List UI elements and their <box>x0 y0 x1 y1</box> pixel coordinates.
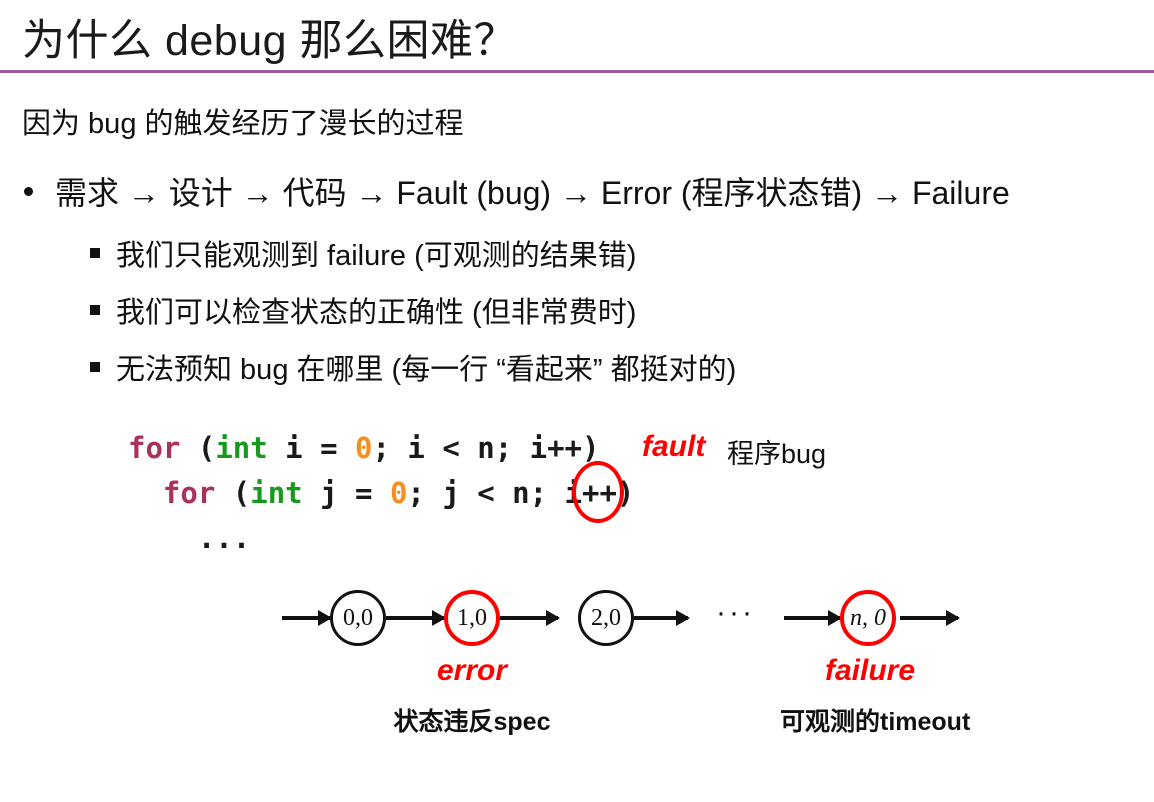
sub-bullet-1-label: 我们可以检查状态的正确性 (但非常费时) <box>116 289 636 331</box>
square-bullet-icon <box>90 305 100 315</box>
slide-root: 为什么 debug 那么困难？ 因为 bug 的触发经历了漫长的过程 需求 → … <box>0 0 1154 802</box>
square-bullet-icon <box>90 248 100 258</box>
round-bullet-icon <box>24 187 33 196</box>
state-node-2: 2,0 <box>578 590 634 646</box>
arrow-0-1 <box>386 616 444 620</box>
code-token-1-4: j = <box>303 476 390 510</box>
arrow-entry <box>282 616 330 620</box>
state-node-1: 1,0 <box>444 590 500 646</box>
code-token-1-5: 0 <box>390 476 407 510</box>
arrow-n-out <box>900 616 958 620</box>
code-token-0-1: ( <box>180 431 215 465</box>
caption-error: 状态违反spec <box>392 702 552 738</box>
bug-highlight-circle <box>572 461 624 523</box>
code-token-0-2: int <box>215 431 267 465</box>
state-node-2-label: 2,0 <box>591 605 621 632</box>
fault-note: 程序bug <box>727 432 826 471</box>
square-bullet-icon <box>90 362 100 372</box>
state-node-n-label: n, 0 <box>850 605 886 632</box>
lead-text: 因为 bug 的触发经历了漫长的过程 <box>22 100 464 142</box>
code-token-2-0: ... <box>128 521 250 555</box>
state-machine-diagram: 0,0 1,0 2,0 ··· n, 0 error failure 状态违反s… <box>0 560 1154 760</box>
code-token-0-3: i = <box>268 431 355 465</box>
code-token-0-4: 0 <box>355 431 372 465</box>
sub-bullet-2: 无法预知 bug 在哪里 (每一行 “看起来” 都挺对的) <box>90 346 736 388</box>
page-title: 为什么 debug 那么困难？ <box>22 6 517 68</box>
arrow-2-out <box>634 616 688 620</box>
bullet-level1: 需求 → 设计 → 代码 → Fault (bug) → Error (程序状态… <box>24 168 1010 214</box>
state-node-0: 0,0 <box>330 590 386 646</box>
code-token-1-2: ( <box>215 476 250 510</box>
arrow-1-2 <box>500 616 558 620</box>
state-node-n-variable: n <box>850 605 862 631</box>
sub-bullet-1: 我们可以检查状态的正确性 (但非常费时) <box>90 289 636 331</box>
sub-bullet-0: 我们只能观测到 failure (可观测的结果错) <box>90 232 636 274</box>
diagram-ellipsis: ··· <box>716 596 755 630</box>
caption-failure: 可观测的timeout <box>780 702 960 738</box>
code-block: for (int i = 0; i < n; i++) for (int j =… <box>128 426 634 561</box>
code-token-1-1: for <box>163 476 215 510</box>
error-annotation: error <box>412 654 532 688</box>
failure-annotation: failure <box>800 654 940 688</box>
state-node-n: n, 0 <box>840 590 896 646</box>
code-token-1-3: int <box>250 476 302 510</box>
title-divider <box>0 70 1154 73</box>
sub-bullet-2-label: 无法预知 bug 在哪里 (每一行 “看起来” 都挺对的) <box>116 346 736 388</box>
code-token-0-5: ; i < n; i++) <box>372 431 599 465</box>
arrow-in-n <box>784 616 840 620</box>
code-token-0-0: for <box>128 431 180 465</box>
sub-bullet-0-label: 我们只能观测到 failure (可观测的结果错) <box>116 232 636 274</box>
state-node-0-label: 0,0 <box>343 605 373 632</box>
code-token-1-0 <box>128 476 163 510</box>
fault-annotation: fault <box>642 430 705 464</box>
bullet-level1-label: 需求 → 设计 → 代码 → Fault (bug) → Error (程序状态… <box>55 168 1010 214</box>
state-node-1-label: 1,0 <box>457 605 487 632</box>
